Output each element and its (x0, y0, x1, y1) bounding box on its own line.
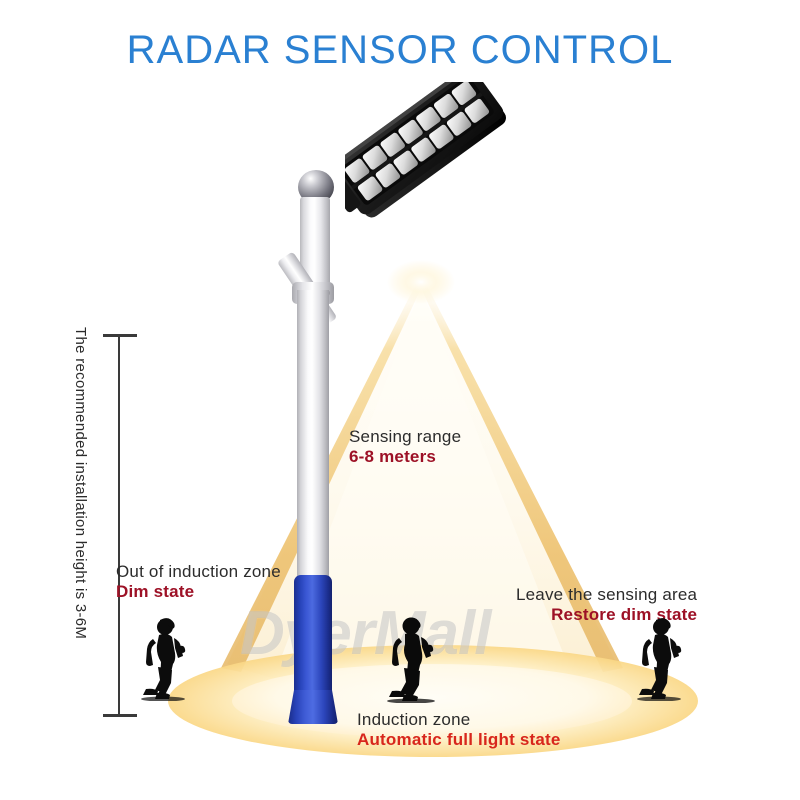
sensing-range-line1: Sensing range (349, 427, 461, 447)
out-of-induction-zone-label: Out of induction zone Dim state (116, 562, 281, 602)
page-title: RADAR SENSOR CONTROL (0, 28, 800, 73)
person-silhouette-center (383, 615, 443, 703)
lamp-pole (297, 290, 329, 580)
leave-area-line1: Leave the sensing area (516, 585, 697, 605)
person-silhouette-left (133, 617, 193, 701)
led-street-lamp-head (345, 82, 550, 282)
sensing-range-label: Sensing range 6-8 meters (349, 427, 461, 467)
pole-base (294, 575, 332, 705)
installation-height-label: The recommended installation height is 3… (69, 327, 91, 703)
diagram-canvas: RADAR SENSOR CONTROL (0, 0, 800, 800)
sensing-range-line2: 6-8 meters (349, 447, 461, 467)
induction-zone-label: Induction zone Automatic full light stat… (357, 710, 561, 750)
dimension-line (118, 336, 120, 716)
dimension-tick-bottom (103, 714, 137, 717)
person-silhouette-right (629, 617, 689, 701)
pole-base-flare (288, 690, 338, 724)
induction-zone-line2: Automatic full light state (357, 730, 561, 750)
out-of-zone-line1: Out of induction zone (116, 562, 281, 582)
out-of-zone-line2: Dim state (116, 582, 281, 602)
induction-zone-line1: Induction zone (357, 710, 561, 730)
dimension-tick-top (103, 334, 137, 337)
